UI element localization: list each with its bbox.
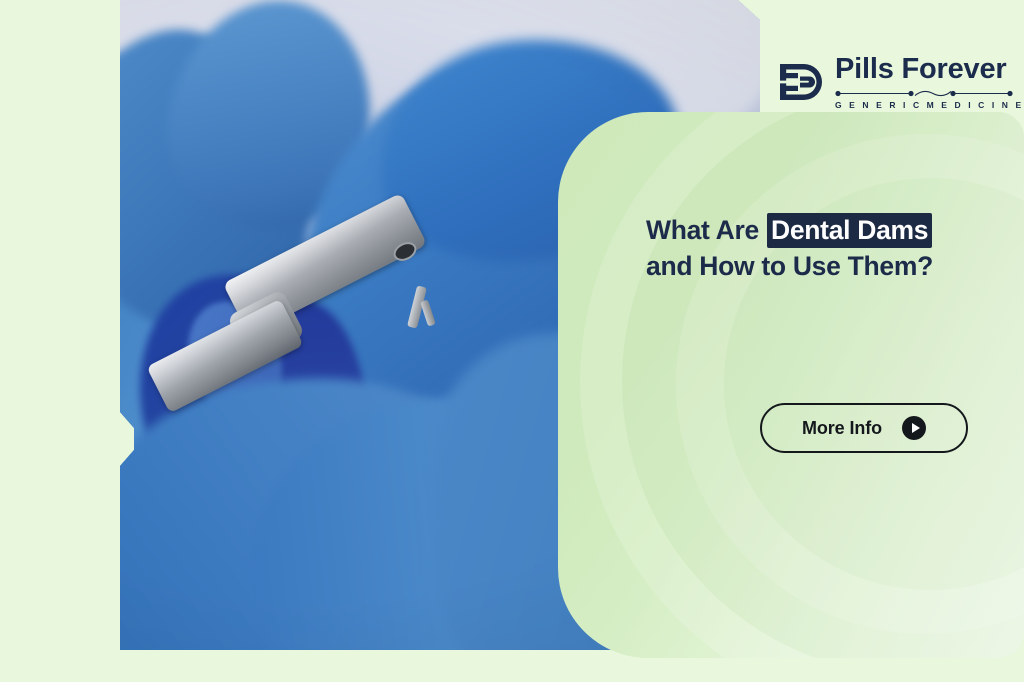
headline-line-1: What Are Dental Dams (646, 212, 1006, 248)
more-info-button[interactable]: More Info (760, 403, 968, 453)
headline-highlight: Dental Dams (767, 213, 932, 248)
more-info-label: More Info (802, 418, 882, 439)
logo-text-block: Pills Forever G E N E R I C M E D I C I … (835, 55, 1024, 110)
headline: What Are Dental Dams and How to Use Them… (646, 212, 1006, 284)
headline-line-2: and How to Use Them? (646, 248, 1006, 284)
content-panel (558, 112, 1024, 658)
logo-name: Pills Forever (835, 55, 1024, 84)
logo-tagline-row (835, 89, 1013, 98)
play-circle-icon (902, 416, 926, 440)
tagline-flourish-icon (835, 89, 1013, 98)
play-triangle-icon (912, 423, 920, 433)
logo-tagline: G E N E R I C M E D I C I N E S (835, 101, 1024, 110)
banner-root: Pills Forever G E N E R I C M E D I C I … (0, 0, 1024, 682)
panel-sheen (558, 112, 1024, 658)
headline-prefix: What Are (646, 215, 766, 245)
brand-logo[interactable]: Pills Forever G E N E R I C M E D I C I … (778, 55, 1024, 110)
pills-forever-monogram-icon (778, 59, 824, 105)
